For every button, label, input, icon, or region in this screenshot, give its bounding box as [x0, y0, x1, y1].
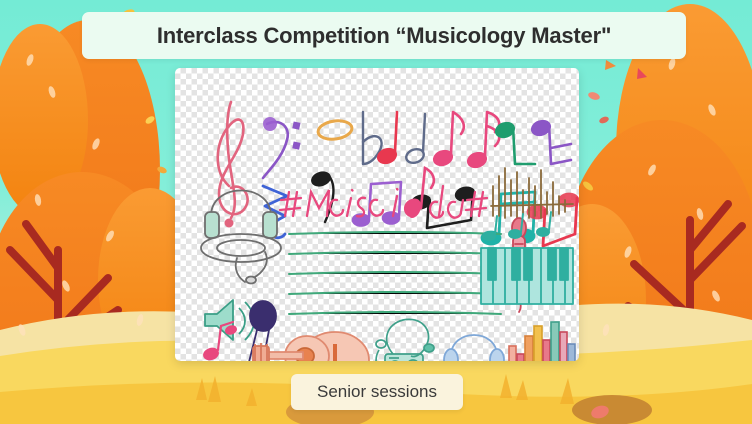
title-main: Interclass Competition: [157, 23, 390, 48]
bass-clef-doodle: [263, 117, 301, 178]
slide-canvas: Interclass Competition “Musicology Maste…: [0, 0, 752, 424]
whole-note-doodle: [317, 119, 353, 142]
music-doodle-image-card: [175, 68, 579, 361]
half-note-doodle: [404, 114, 425, 165]
page-title: Interclass Competition “Musicology Maste…: [157, 23, 611, 49]
headphones-doodle: [201, 191, 281, 284]
title-quoted: “Musicology Master": [396, 23, 612, 48]
sixteenth-note-pink-doodle: [466, 112, 499, 169]
slide-title-banner: Interclass Competition “Musicology Maste…: [82, 12, 686, 59]
eighth-note-green-doodle: [494, 121, 535, 164]
session-label-chip: Senior sessions: [291, 374, 463, 410]
headphones-blue-doodle: [444, 335, 504, 361]
shrub-mound-right: [572, 395, 652, 424]
music-doodle-illustration: [175, 68, 579, 361]
treble-clef-doodle: [218, 102, 248, 228]
cassette-player-doodle: [376, 319, 434, 361]
piano-keys-doodle: [481, 248, 573, 304]
eighth-note-pink-doodle: [432, 112, 463, 167]
staff-lines-doodle: [289, 232, 501, 314]
acoustic-guitar-doodle: [253, 332, 369, 361]
eighth-note-purple-doodle: [530, 119, 571, 164]
music-note-pink-doodle: [203, 322, 237, 361]
equalizer-bars-doodle: [509, 322, 575, 361]
session-label-text: Senior sessions: [317, 382, 437, 402]
beamed-notes-violet-doodle: [353, 182, 401, 226]
